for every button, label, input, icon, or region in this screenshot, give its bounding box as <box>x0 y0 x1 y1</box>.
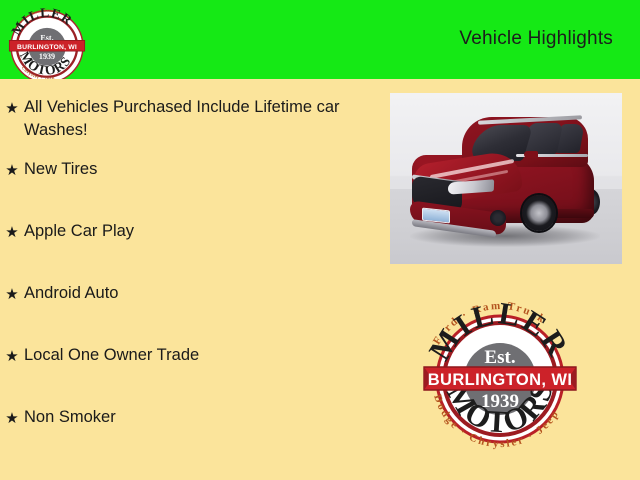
list-item: ★ New Tires <box>0 158 376 220</box>
star-bullet-icon: ★ <box>0 344 24 369</box>
star-bullet-icon: ★ <box>0 96 24 121</box>
star-bullet-icon: ★ <box>0 158 24 183</box>
star-bullet-icon: ★ <box>0 406 24 431</box>
svg-text:BURLINGTON, WI: BURLINGTON, WI <box>428 371 573 389</box>
star-bullet-icon: ★ <box>0 282 24 307</box>
header-bar: Ford · Ram Truck Chrysler · Jeep MILLER … <box>0 0 640 79</box>
vehicle-highlights-list: ★ All Vehicles Purchased Include Lifetim… <box>0 96 376 468</box>
list-item: ★ All Vehicles Purchased Include Lifetim… <box>0 96 376 158</box>
vehicle-illustration <box>404 109 612 241</box>
list-item-label: All Vehicles Purchased Include Lifetime … <box>24 96 376 142</box>
front-wheel <box>522 195 556 231</box>
list-item-label: Apple Car Play <box>24 220 142 243</box>
list-item: ★ Apple Car Play <box>0 220 376 282</box>
svg-text:1939: 1939 <box>481 391 519 412</box>
miller-motors-badge-icon: Ford · Ram Truck Chrysler · Jeep MILLER … <box>2 0 92 79</box>
page-title: Vehicle Highlights <box>459 28 613 50</box>
svg-text:1939: 1939 <box>39 52 55 61</box>
list-item-label: Non Smoker <box>24 406 124 429</box>
list-item: ★ Android Auto <box>0 282 376 344</box>
star-bullet-icon: ★ <box>0 220 24 245</box>
list-item-label: New Tires <box>24 158 105 181</box>
vehicle-photo <box>390 93 622 264</box>
list-item-label: Local One Owner Trade <box>24 344 207 367</box>
miller-motors-logo-icon: Ford · Ram Truck Dodge · Chrysler · Jeep… <box>418 283 582 465</box>
side-mirror <box>524 151 538 158</box>
list-item: ★ Local One Owner Trade <box>0 344 376 406</box>
svg-text:BURLINGTON, WI: BURLINGTON, WI <box>17 44 77 51</box>
fog-light <box>490 210 506 226</box>
list-item-label: Android Auto <box>24 282 127 305</box>
svg-text:Est.: Est. <box>484 347 515 368</box>
list-item: ★ Non Smoker <box>0 406 376 468</box>
